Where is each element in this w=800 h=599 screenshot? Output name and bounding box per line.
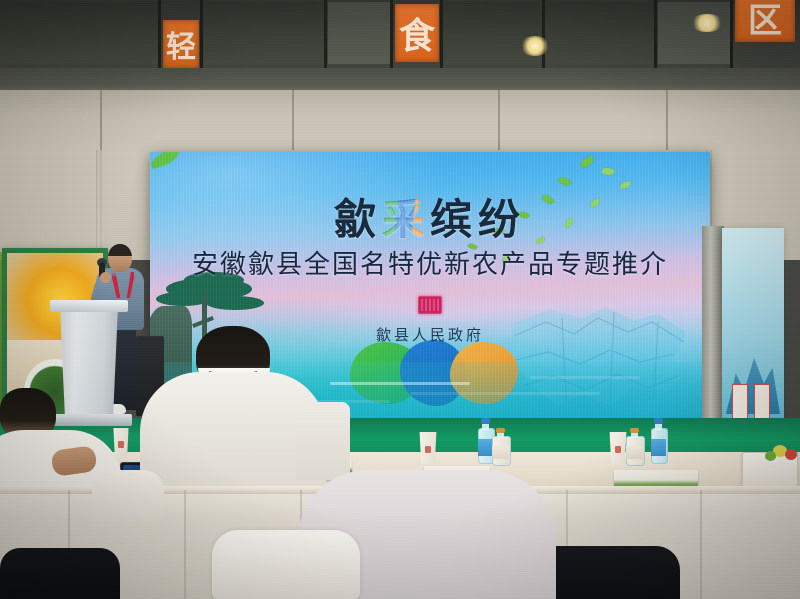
hall-sign-panel-3: 区 [735,0,795,42]
title-char-3: 缤 [430,186,478,247]
speaker-head [108,244,132,272]
wall-band [0,90,800,154]
paper-cup [418,432,438,464]
white-chair [212,530,360,599]
title-char-1: 歙 [334,186,382,247]
milk-bottle [626,428,643,466]
gift-fruit-icon [785,449,797,460]
hall-sign-panel-1: 轻 [163,20,199,68]
hall-sign-panel-2: 食 [395,4,439,62]
ceiling-lamp-icon [520,36,550,56]
red-seal-stamp-icon [418,296,442,314]
foreground-arm [92,470,164,522]
title-char-2-accent: 采 [382,186,430,247]
podium-top [50,300,128,312]
water-bottle [478,418,493,464]
title-char-4: 纷 [478,186,526,247]
led-title: 歙采缤纷 [150,186,710,247]
led-subtitle: 安徽歙县全国名特优新农产品专题推介 [150,244,710,281]
side-banner [722,228,784,428]
podium [56,306,122,424]
gift-box [742,452,798,488]
gift-fruit-icon [765,451,776,461]
door-frame [702,226,724,430]
attendee-arm [296,402,350,480]
ceiling-lamp-icon [690,14,724,32]
leaf-icon [579,155,595,168]
wall-pillar [96,150,102,260]
water-bottle [651,418,666,464]
leaf-icon [601,166,615,176]
paper-cup [112,428,130,458]
dark-chair-left [0,548,120,599]
milk-bottle [492,428,509,466]
paper-cup [608,432,628,464]
speaker-hand [100,272,111,283]
photo-scene: 轻 食 区 [0,0,800,599]
podium-base [46,414,132,426]
ceiling-beam [0,68,800,92]
